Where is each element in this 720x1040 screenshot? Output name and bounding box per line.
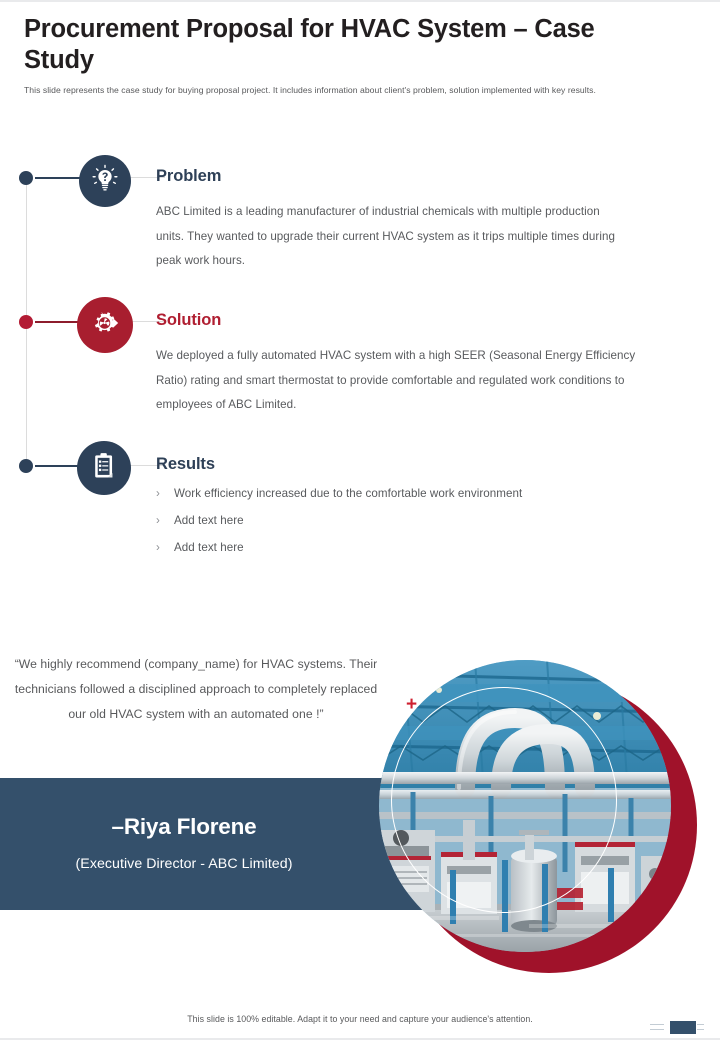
corner-block bbox=[670, 1021, 696, 1034]
slide-canvas: Procurement Proposal for HVAC System – C… bbox=[0, 0, 720, 1040]
list-item-label: Add text here bbox=[174, 514, 244, 527]
results-heading: Results bbox=[156, 455, 215, 474]
corner-line bbox=[697, 1024, 704, 1025]
list-item: › Add text here bbox=[156, 514, 646, 541]
lightbulb-question-icon bbox=[90, 164, 120, 199]
testimonial-author: –Riya Florene bbox=[0, 814, 368, 840]
solution-heading: Solution bbox=[156, 311, 221, 330]
problem-body: ABC Limited is a leading manufacturer of… bbox=[156, 200, 626, 274]
plus-marker: + bbox=[406, 695, 417, 714]
list-item: › Add text here bbox=[156, 541, 646, 568]
corner-line bbox=[650, 1029, 664, 1030]
testimonial-photo-cluster: + bbox=[373, 655, 720, 985]
footer-note: This slide is 100% editable. Adapt it to… bbox=[0, 1014, 720, 1024]
corner-line bbox=[697, 1029, 704, 1030]
list-item: › Work efficiency increased due to the c… bbox=[156, 487, 646, 514]
solution-body: We deployed a fully automated HVAC syste… bbox=[156, 344, 656, 418]
chevron-right-icon: › bbox=[156, 515, 174, 527]
timeline-dot-results bbox=[19, 459, 33, 473]
problem-heading: Problem bbox=[156, 167, 221, 186]
list-item-label: Add text here bbox=[174, 541, 244, 554]
slide-header: Procurement Proposal for HVAC System – C… bbox=[24, 14, 684, 96]
list-item-label: Work efficiency increased due to the com… bbox=[174, 487, 522, 500]
white-ring-decoration bbox=[391, 687, 617, 913]
page-title: Procurement Proposal for HVAC System – C… bbox=[24, 14, 624, 76]
corner-line bbox=[650, 1024, 664, 1025]
gear-arrow-icon bbox=[89, 307, 121, 344]
results-icon-badge bbox=[77, 441, 131, 495]
results-bullet-list: › Work efficiency increased due to the c… bbox=[156, 487, 646, 568]
clipboard-checklist-icon bbox=[89, 451, 119, 486]
timeline-dot-problem bbox=[19, 171, 33, 185]
testimonial-author-role: (Executive Director - ABC Limited) bbox=[0, 856, 368, 872]
timeline-dot-solution bbox=[19, 315, 33, 329]
slide-subtitle: This slide represents the case study for… bbox=[24, 85, 656, 97]
solution-icon-badge bbox=[77, 297, 133, 353]
problem-icon-badge bbox=[79, 155, 131, 207]
top-edge-rule bbox=[0, 0, 720, 2]
chevron-right-icon: › bbox=[156, 542, 174, 554]
corner-decoration bbox=[650, 1019, 704, 1035]
chevron-right-icon: › bbox=[156, 488, 174, 500]
testimonial-quote: “We highly recommend (company_name) for … bbox=[12, 652, 380, 727]
